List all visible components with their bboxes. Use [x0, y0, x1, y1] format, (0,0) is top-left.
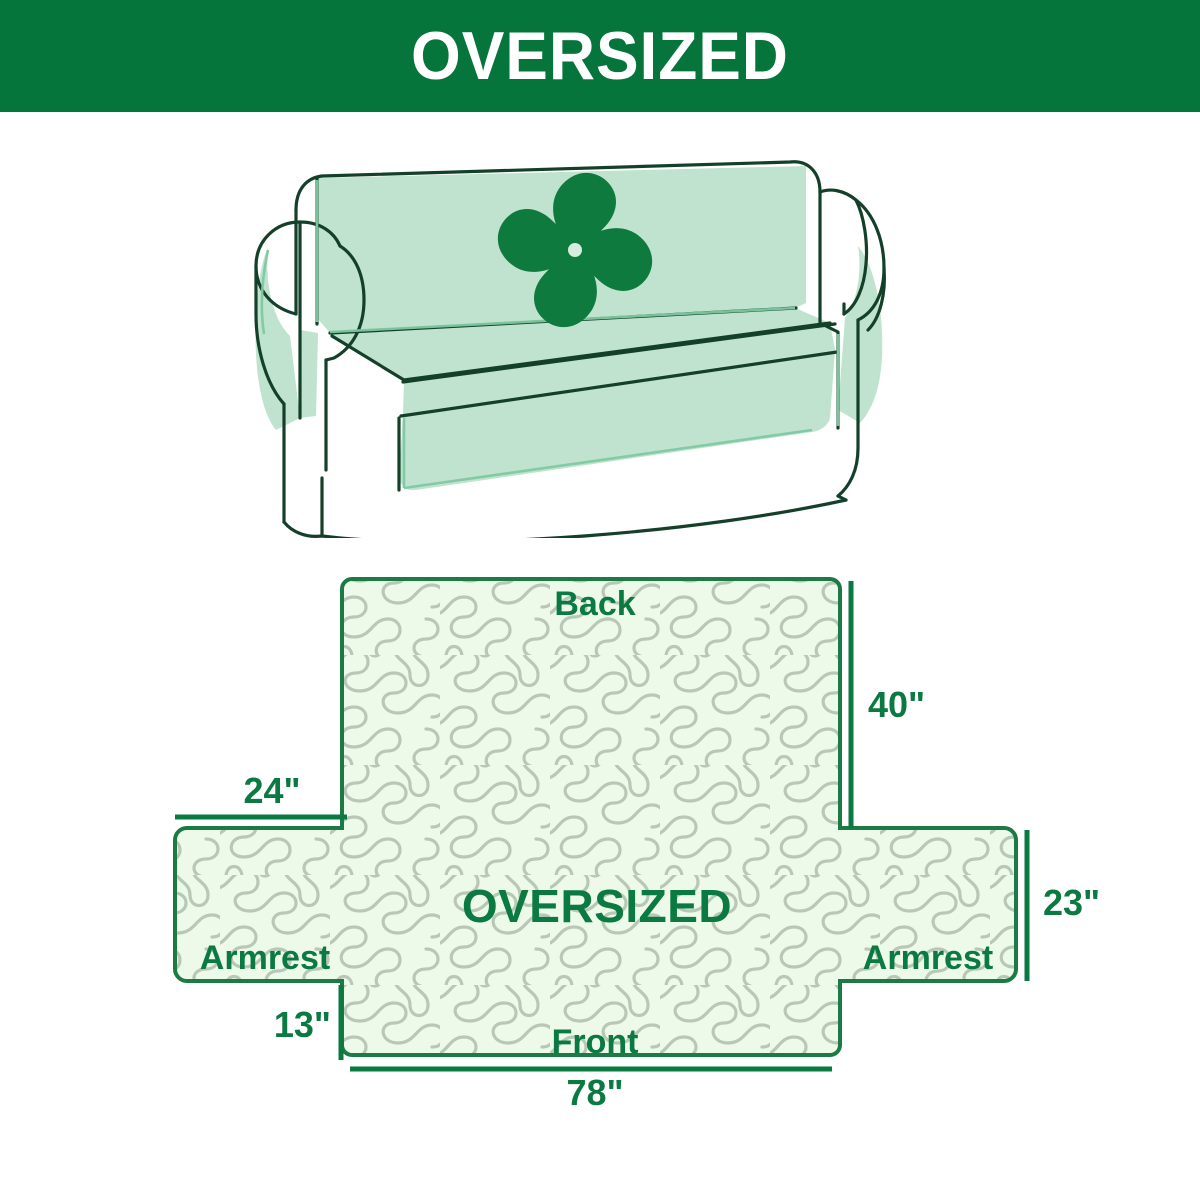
dimension-back-height: 40"	[851, 581, 925, 828]
dimension-label-78: 78"	[566, 1072, 623, 1113]
dimension-label-24: 24"	[243, 770, 300, 811]
panel-label-front: Front	[552, 1023, 639, 1061]
dimension-label-13: 13"	[274, 1004, 331, 1045]
dimension-front-drop: 13"	[274, 985, 341, 1060]
dimension-label-40: 40"	[868, 684, 925, 725]
panel-label-armrest-right: Armrest	[863, 939, 993, 977]
panel-label-armrest-left: Armrest	[200, 939, 330, 977]
sofa-illustration	[0, 118, 1200, 538]
cover-flat-diagram: Back Armrest Armrest Front OVERSIZED 40"…	[0, 545, 1200, 1200]
dimension-total-width: 78"	[350, 1069, 832, 1113]
header-banner: OVERSIZED	[0, 0, 1200, 112]
dimension-armrest-height: 23"	[1027, 830, 1100, 981]
center-label-oversized: OVERSIZED	[462, 880, 732, 932]
panel-label-back: Back	[554, 585, 635, 623]
dimension-label-23: 23"	[1043, 882, 1100, 923]
dimension-armrest-width: 24"	[175, 770, 347, 817]
cover-diagram-drawing: Back Armrest Armrest Front OVERSIZED 40"…	[0, 545, 1200, 1200]
sofa-drawing	[0, 118, 1200, 538]
product-size-chart: OVERSIZED	[0, 0, 1200, 1200]
banner-title: OVERSIZED	[411, 22, 789, 90]
